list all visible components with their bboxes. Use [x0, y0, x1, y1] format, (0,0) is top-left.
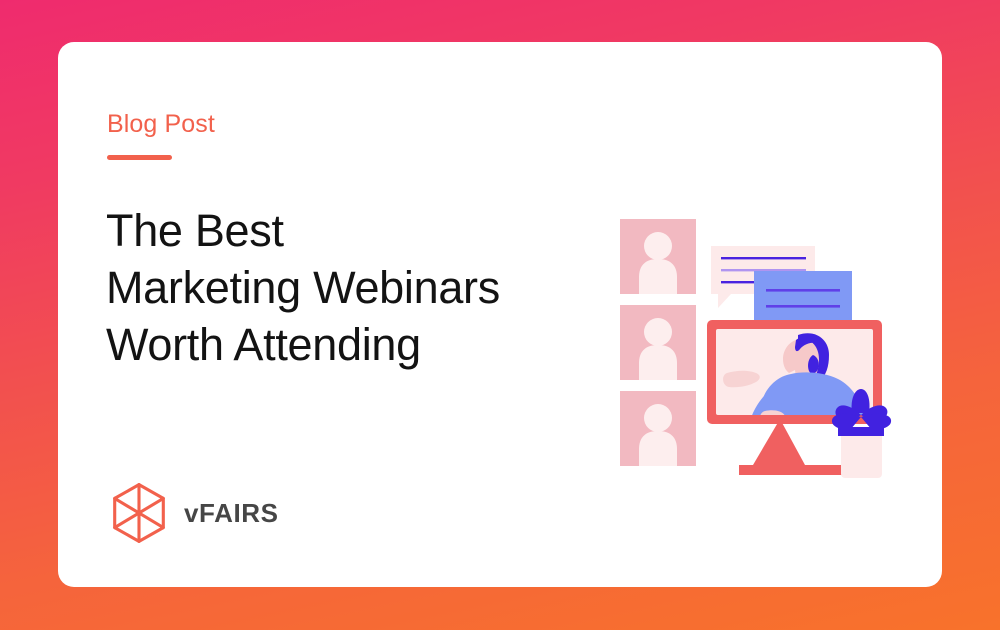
participant-tile-1	[620, 219, 696, 294]
brand-logo: vFAIRS	[111, 482, 279, 544]
logo-wordmark: vFAIRS	[184, 498, 279, 529]
headline-line-1: The Best	[106, 202, 576, 259]
headline-line-3: Worth Attending	[106, 316, 576, 373]
headline-line-2: Marketing Webinars	[106, 259, 576, 316]
page-title: The Best Marketing Webinars Worth Attend…	[106, 202, 576, 373]
eyebrow-rule	[107, 155, 172, 160]
eyebrow-label: Blog Post	[107, 112, 215, 137]
hexagon-cube-icon	[111, 482, 167, 544]
blog-post-card: Blog Post The Best Marketing Webinars Wo…	[58, 42, 942, 587]
participant-tile-3	[620, 391, 696, 466]
monitor-stand	[739, 419, 845, 475]
webinar-presenter-illustration	[555, 165, 905, 485]
participant-tile-2	[620, 305, 696, 380]
eyebrow-block: Blog Post	[107, 112, 215, 160]
